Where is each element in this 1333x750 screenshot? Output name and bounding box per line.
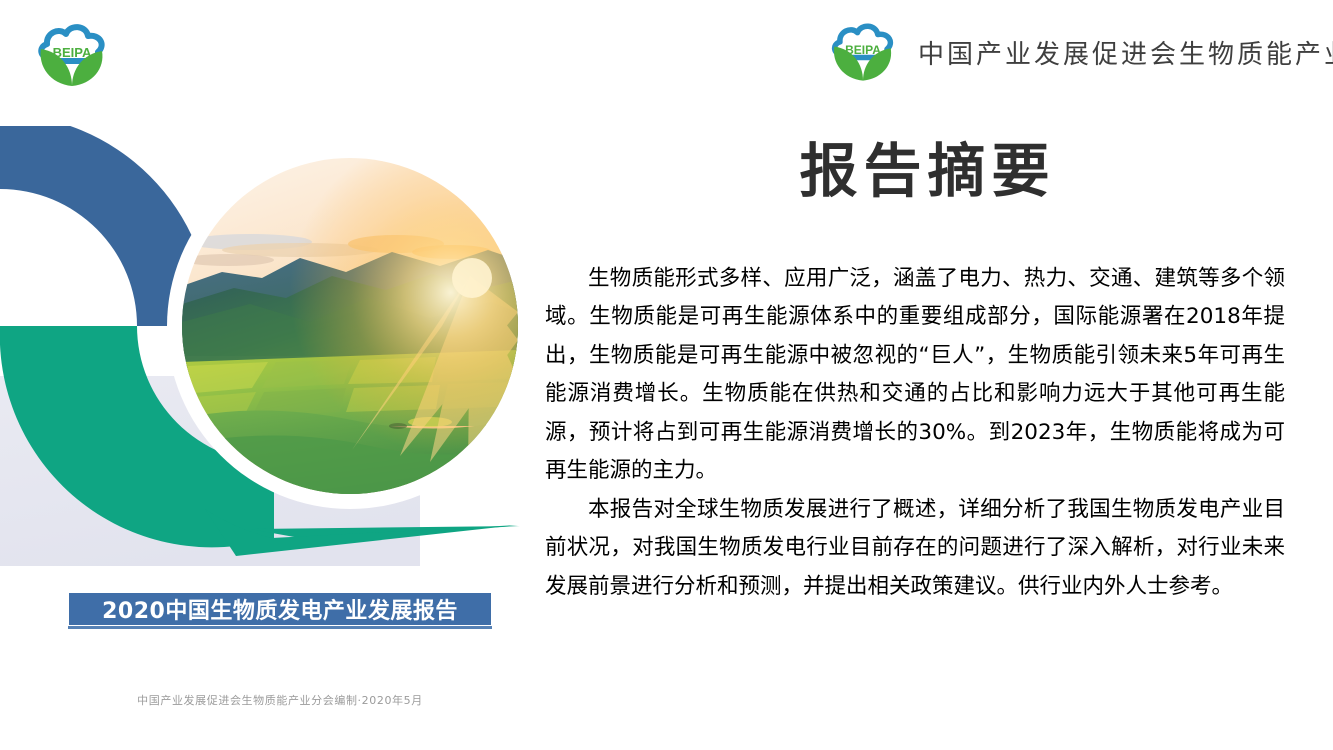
organization-title: 中国产业发展促进会生物质能产业分会	[918, 34, 1333, 71]
report-title-banner: 2020中国生物质发电产业发展报告	[68, 592, 492, 629]
summary-body: 生物质能形式多样、应用广泛，涵盖了电力、热力、交通、建筑等多个领域。生物质能是可…	[545, 260, 1285, 607]
content-column: 报告摘要 生物质能形式多样、应用广泛，涵盖了电力、热力、交通、建筑等多个领域。生…	[545, 140, 1300, 606]
page-title: 报告摘要	[545, 140, 1300, 204]
beipa-wordmark-left: BEIPA	[53, 45, 92, 60]
header-brand: BEIPA 中国产业发展促进会生物质能产业分会	[822, 16, 1333, 88]
beipa-cloud-leaf-icon-right: BEIPA	[822, 16, 904, 88]
beipa-wordmark-right: BEIPA	[845, 43, 881, 57]
beipa-logo-left: BEIPA	[28, 16, 116, 94]
footer-credit: 中国产业发展促进会生物质能产业分会编制·2020年5月	[68, 692, 492, 708]
slide-root: BEIPA BEIPA 中国产业发展促进会生物质能产业分会	[0, 0, 1333, 750]
report-title-text: 2020中国生物质发电产业发展报告	[102, 593, 458, 625]
report-title-banner-inner: 2020中国生物质发电产业发展报告	[68, 592, 492, 626]
summary-paragraph-2: 本报告对全球生物质发展进行了概述，详细分析了我国生物质发电产业目前状况，对我国生…	[545, 491, 1285, 607]
cover-graphic	[0, 126, 560, 586]
beipa-cloud-leaf-icon: BEIPA	[28, 16, 116, 94]
summary-paragraph-1: 生物质能形式多样、应用广泛，涵盖了电力、热力、交通、建筑等多个领域。生物质能是可…	[545, 260, 1285, 491]
